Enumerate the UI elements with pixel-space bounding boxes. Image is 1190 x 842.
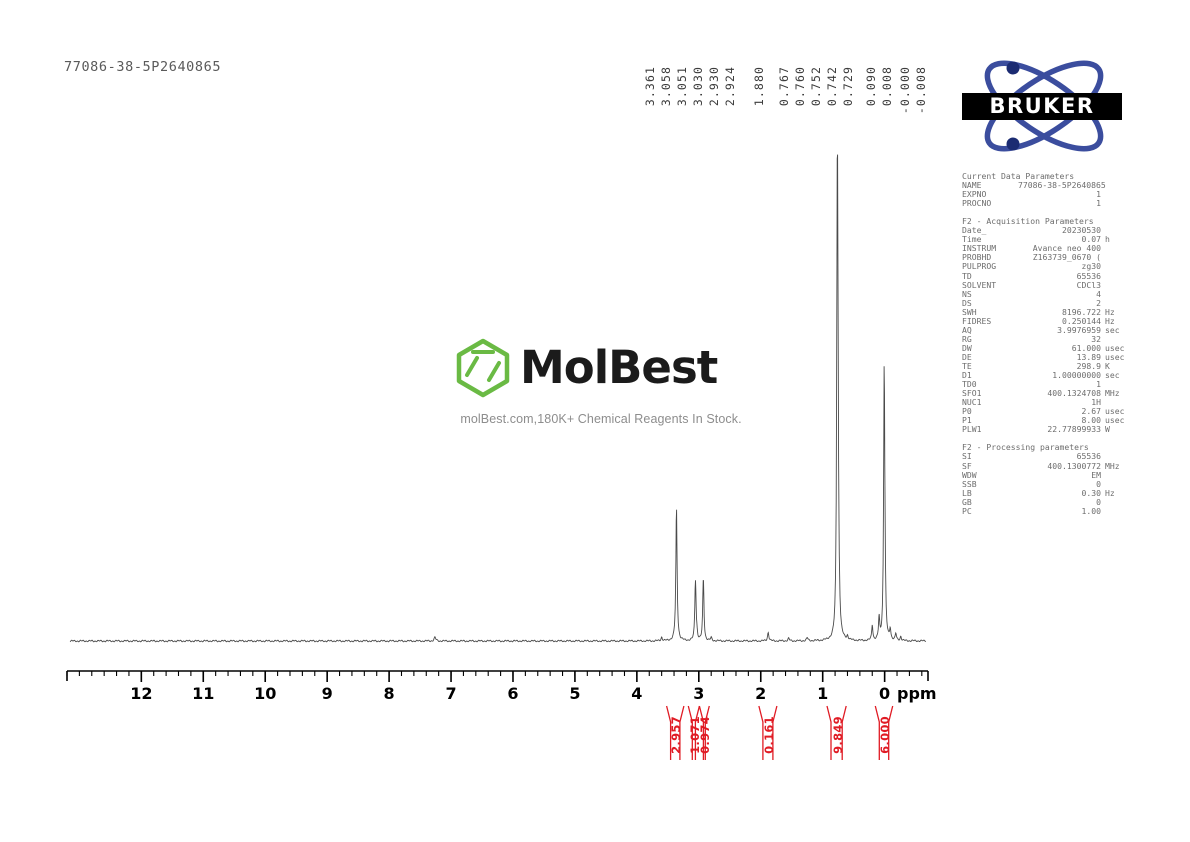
axis-tick-label: 6 bbox=[507, 684, 518, 703]
axis-tick-label: 12 bbox=[130, 684, 152, 703]
axis-tick-label: 7 bbox=[445, 684, 456, 703]
axis-tick-label: 11 bbox=[192, 684, 214, 703]
axis-tick-label: 1 bbox=[817, 684, 828, 703]
integral-value-label: 0.161 bbox=[762, 716, 776, 754]
integral-value-label: 2.957 bbox=[669, 716, 683, 754]
axis-tick-label: 8 bbox=[384, 684, 395, 703]
nmr-spectrum-plot bbox=[0, 0, 1190, 842]
integral-value-label: 6.000 bbox=[878, 716, 892, 754]
axis-tick-label: 2 bbox=[755, 684, 766, 703]
spectrum-trace bbox=[70, 155, 926, 642]
axis-tick-label: 3 bbox=[693, 684, 704, 703]
axis-tick-label: 0 bbox=[879, 684, 890, 703]
axis-unit-label: ppm bbox=[897, 684, 937, 703]
nmr-report-sheet: 77086-38-5P2640865 3.3613.0583.0513.0302… bbox=[0, 0, 1190, 842]
axis-tick-label: 5 bbox=[569, 684, 580, 703]
axis-tick-label: 4 bbox=[631, 684, 642, 703]
axis-tick-label: 9 bbox=[322, 684, 333, 703]
integral-value-label: 0.974 bbox=[698, 716, 712, 754]
axis-tick-label: 10 bbox=[254, 684, 276, 703]
integral-value-label: 9.849 bbox=[831, 716, 845, 754]
